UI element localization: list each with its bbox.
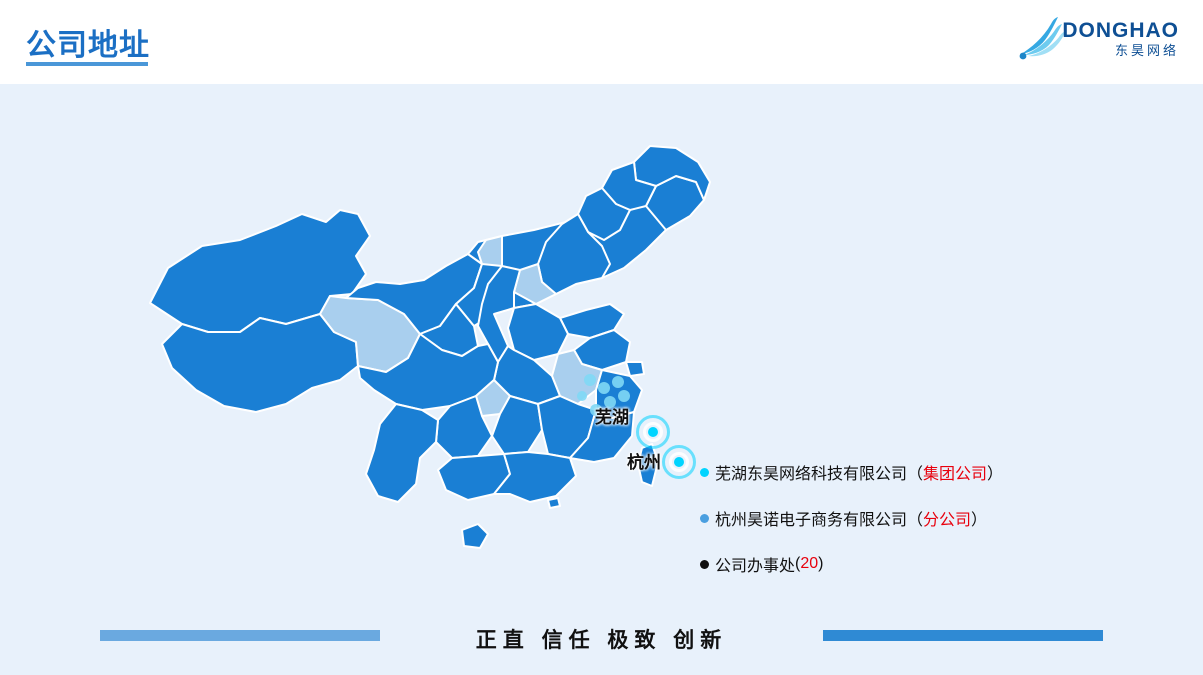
province-tibet: [162, 314, 358, 412]
map-label-hangzhou: 杭州: [627, 448, 661, 473]
china-map: 芜湖 杭州: [90, 118, 730, 608]
legend-tag: 20: [800, 555, 818, 573]
legend-tag: 分公司: [923, 506, 971, 530]
legend-bullet-icon: [700, 468, 709, 477]
footer-slogan: 正直 信任 极致 创新: [0, 624, 1203, 654]
map-marker-wuhu[interactable]: [636, 415, 670, 449]
logo-text: DONGHAO 东昊网络: [1062, 20, 1179, 60]
legend-bullet-icon: [700, 514, 709, 523]
marker-dot: [648, 427, 658, 437]
map-marker-hangzhou[interactable]: [662, 445, 696, 479]
map-label-wuhu: 芜湖: [595, 403, 629, 428]
logo-en: DONGHAO: [1062, 20, 1179, 42]
legend-open-paren: （: [907, 460, 923, 484]
marker-dot: [674, 457, 684, 467]
page-title: 公司地址: [26, 20, 150, 64]
legend-item-offices: 公司办事处 ( 20 ): [700, 552, 1170, 576]
province-shanghai: [626, 362, 644, 376]
province-yunnan: [366, 404, 438, 502]
legend-close-paren: ）: [971, 506, 987, 530]
logo-cn: 东昊网络: [1062, 42, 1179, 60]
legend-label: 芜湖东昊网络科技有限公司: [715, 460, 907, 484]
title-underline: [26, 62, 148, 66]
legend-close-paren: ): [818, 555, 823, 573]
legend-tag: 集团公司: [923, 460, 987, 484]
china-map-svg: [90, 118, 730, 608]
province-hongkong: [548, 498, 560, 508]
province-hainan: [462, 524, 488, 548]
legend-label: 公司办事处: [715, 552, 795, 576]
header-bar: 公司地址 DONGHAO 东昊网络: [0, 0, 1203, 84]
legend-bullet-icon: [700, 560, 709, 569]
legend-item-branch-company: 杭州昊诺电子商务有限公司 （ 分公司 ）: [700, 506, 1170, 530]
legend-label: 杭州昊诺电子商务有限公司: [715, 506, 907, 530]
legend-close-paren: ）: [987, 460, 1003, 484]
legend-item-group-company: 芜湖东昊网络科技有限公司 （ 集团公司 ）: [700, 460, 1170, 484]
slide: 公司地址 DONGHAO 东昊网络: [0, 0, 1203, 675]
legend: 芜湖东昊网络科技有限公司 （ 集团公司 ） 杭州昊诺电子商务有限公司 （ 分公司…: [700, 460, 1170, 598]
legend-open-paren: （: [907, 506, 923, 530]
